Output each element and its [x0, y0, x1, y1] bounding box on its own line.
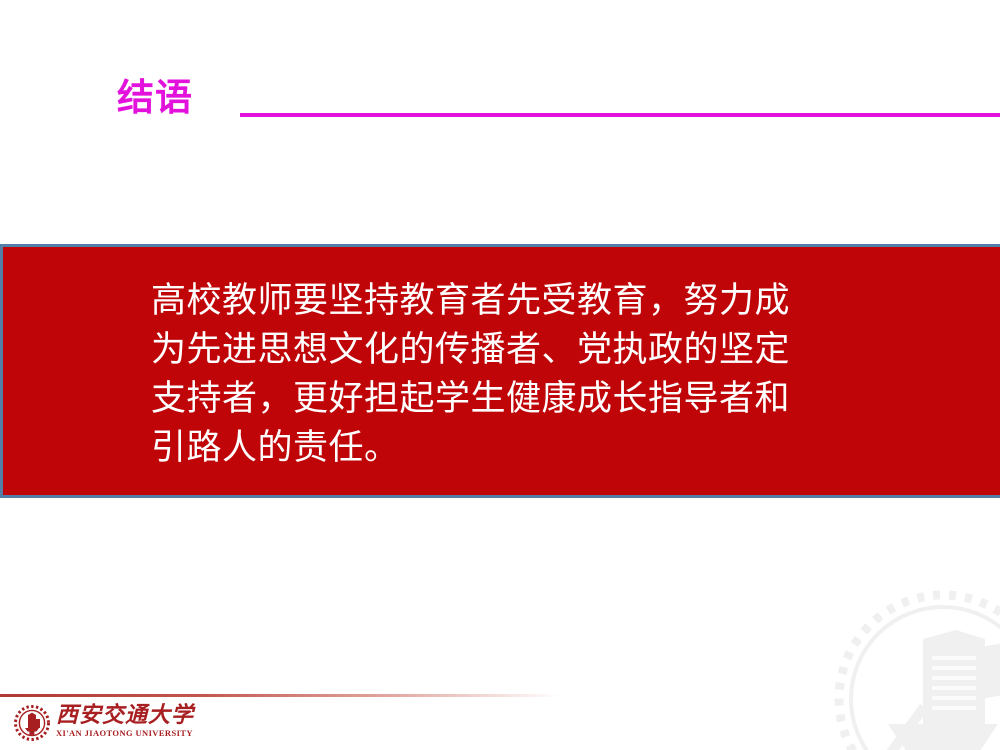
quote-text-block: 高校教师要坚持教育者先受教育，努力成 为先进思想文化的传播者、党执政的坚定 支持…: [151, 277, 863, 473]
quote-callout-box: 高校教师要坚持教育者先受教育，努力成 为先进思想文化的传播者、党执政的坚定 支持…: [0, 244, 1000, 498]
slide-canvas: 结语 高校教师要坚持教育者先受教育，努力成 为先进思想文化的传播者、党执政的坚定…: [0, 0, 1000, 750]
quote-line: 支持者，更好担起学生健康成长指导者和: [151, 375, 863, 424]
watermark-year-label: 1896: [910, 715, 967, 739]
footer-divider-rule: [0, 694, 560, 697]
page-title: 结语: [117, 74, 193, 122]
university-emblem-watermark-icon: 1896: [828, 584, 1000, 750]
logo-wordmark: 西安交通大学 XI'AN JIAOTONG UNIVERSITY: [56, 703, 182, 739]
logo-name-cn: 西安交通大学: [56, 703, 182, 728]
quote-line: 引路人的责任。: [151, 424, 863, 473]
slide-header: 结语: [0, 74, 1000, 130]
quote-line: 为先进思想文化的传播者、党执政的坚定: [151, 326, 863, 375]
quote-line: 高校教师要坚持教育者先受教育，努力成: [151, 277, 863, 326]
title-divider-rule: [240, 113, 1000, 117]
gear-emblem-icon: [14, 705, 50, 741]
logo-name-en: XI'AN JIAOTONG UNIVERSITY: [56, 728, 182, 739]
university-logo: 西安交通大学 XI'AN JIAOTONG UNIVERSITY: [14, 703, 184, 745]
